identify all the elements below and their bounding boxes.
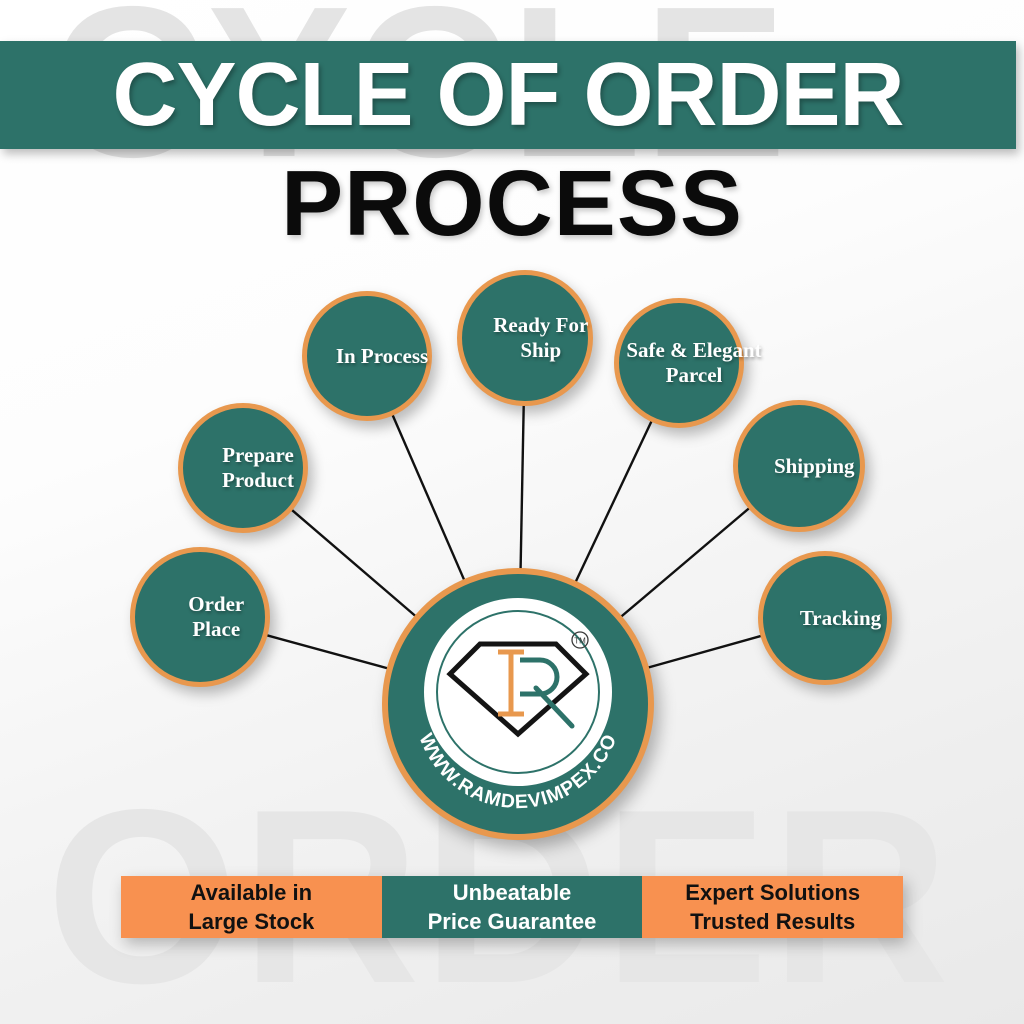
- process-node-label: In Process: [307, 344, 427, 369]
- label-line: Place: [135, 617, 298, 642]
- connector-tracking: [647, 636, 761, 668]
- process-node-tracking[interactable]: Tracking: [758, 551, 892, 685]
- trademark-icon: TM: [574, 637, 586, 646]
- label-line: Safe & Elegant: [619, 338, 769, 363]
- diamond-r-logo-icon: TM: [440, 622, 596, 742]
- banner-line: Expert Solutions: [685, 878, 860, 907]
- label-line: Product: [183, 468, 333, 493]
- banner-line: Price Guarantee: [428, 907, 597, 936]
- process-diagram: OrderPlacePrepareProductIn ProcessReady …: [0, 0, 1024, 1024]
- connector-safe-elegant-parcel: [575, 421, 651, 583]
- process-node-label: Ready ForShip: [462, 313, 588, 363]
- label-line: Parcel: [619, 363, 769, 388]
- label-line: Shipping: [738, 454, 891, 479]
- banner-line: Unbeatable: [453, 878, 572, 907]
- process-node-shipping[interactable]: Shipping: [733, 400, 865, 532]
- process-node-in-process[interactable]: In Process: [302, 291, 432, 421]
- process-node-label: Tracking: [763, 606, 887, 631]
- label-line: Order: [135, 592, 298, 617]
- process-node-label: Safe & ElegantParcel: [619, 338, 739, 388]
- process-node-safe-elegant-parcel[interactable]: Safe & ElegantParcel: [614, 298, 744, 428]
- connector-lines: [0, 0, 1024, 1024]
- label-line: Ready For: [462, 313, 620, 338]
- center-logo-badge: WWW.RAMDEVIMPEX.CO TM: [382, 568, 654, 840]
- feature-banner: Available inLarge StockUnbeatablePrice G…: [121, 876, 903, 938]
- process-node-order-place[interactable]: OrderPlace: [130, 547, 270, 687]
- banner-line: Trusted Results: [690, 907, 855, 936]
- banner-cell-price-guarantee[interactable]: UnbeatablePrice Guarantee: [382, 876, 643, 938]
- banner-cell-expert-solutions[interactable]: Expert SolutionsTrusted Results: [642, 876, 903, 938]
- label-line: Tracking: [763, 606, 918, 631]
- label-line: In Process: [307, 344, 457, 369]
- infographic-canvas: CYCLE ORDER CYCLE OF ORDER PROCESS Order…: [0, 0, 1024, 1024]
- label-line: Prepare: [183, 443, 333, 468]
- process-node-label: OrderPlace: [135, 592, 265, 642]
- process-node-prepare-product[interactable]: PrepareProduct: [178, 403, 308, 533]
- connector-ready-for-ship: [521, 405, 524, 570]
- banner-line: Large Stock: [188, 907, 314, 936]
- process-node-ready-for-ship[interactable]: Ready ForShip: [457, 270, 593, 406]
- banner-line: Available in: [191, 878, 312, 907]
- label-line: Ship: [462, 338, 620, 363]
- process-node-label: Shipping: [738, 454, 860, 479]
- banner-cell-available-stock[interactable]: Available inLarge Stock: [121, 876, 382, 938]
- connector-in-process: [392, 415, 464, 581]
- process-node-label: PrepareProduct: [183, 443, 303, 493]
